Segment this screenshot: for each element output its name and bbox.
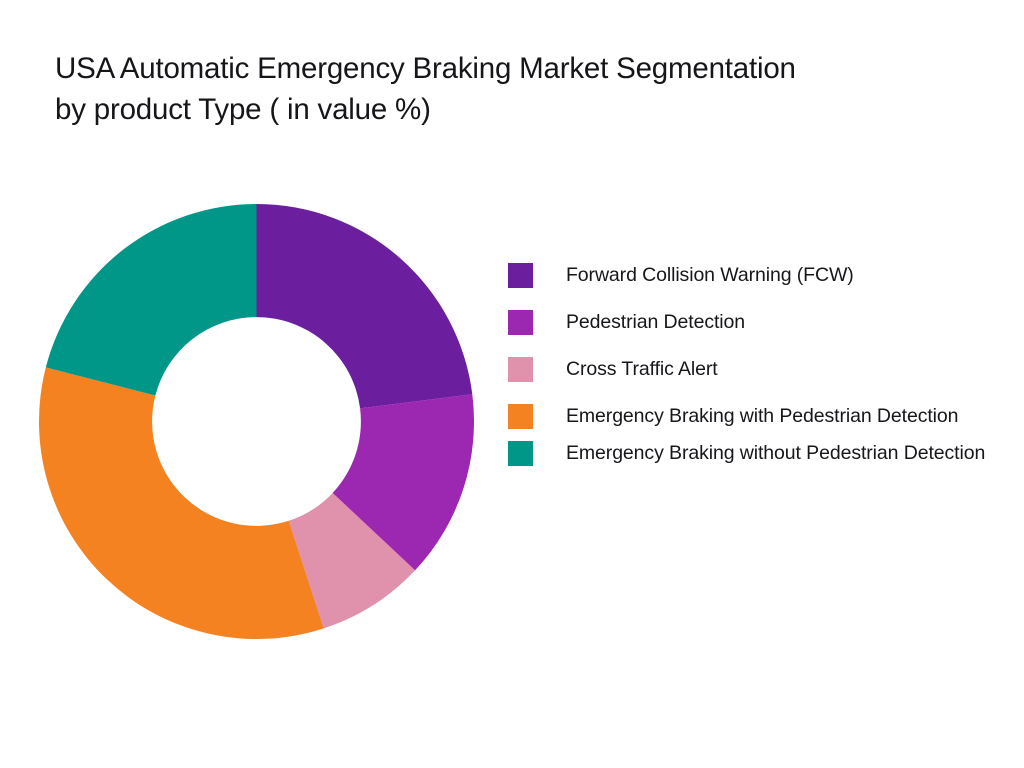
donut-slice[interactable]: Emergency Braking without Pedestrian Det… — [46, 204, 257, 396]
legend-item[interactable]: Emergency Braking without Pedestrian Det… — [508, 440, 994, 467]
chart-page: USA Automatic Emergency Braking Market S… — [0, 0, 1024, 768]
legend-item-label: Cross Traffic Alert — [566, 356, 718, 383]
legend-item-label: Emergency Braking with Pedestrian Detect… — [566, 403, 958, 430]
legend-swatch-icon — [508, 357, 533, 382]
legend-item[interactable]: Forward Collision Warning (FCW) — [508, 262, 994, 289]
legend-swatch-icon — [508, 441, 533, 466]
legend-item-label: Pedestrian Detection — [566, 309, 745, 336]
legend-item-label: Forward Collision Warning (FCW) — [566, 262, 854, 289]
legend-item[interactable]: Pedestrian Detection — [508, 309, 994, 336]
legend-item[interactable]: Emergency Braking with Pedestrian Detect… — [508, 403, 994, 430]
donut-chart-svg: Forward Collision Warning (FCW) 23%Pedes… — [39, 204, 474, 639]
page-title: USA Automatic Emergency Braking Market S… — [55, 48, 975, 130]
legend-item-label: Emergency Braking without Pedestrian Det… — [566, 440, 985, 467]
legend-swatch-icon — [508, 263, 533, 288]
donut-chart: Forward Collision Warning (FCW) 23%Pedes… — [39, 204, 474, 639]
chart-legend: Forward Collision Warning (FCW)Pedestria… — [508, 262, 994, 477]
legend-swatch-icon — [508, 404, 533, 429]
legend-swatch-icon — [508, 310, 533, 335]
donut-slice-group: Forward Collision Warning (FCW) 23%Pedes… — [39, 204, 474, 639]
donut-slice[interactable]: Emergency Braking with Pedestrian Detect… — [39, 367, 324, 639]
legend-item[interactable]: Cross Traffic Alert — [508, 356, 994, 383]
donut-slice[interactable]: Forward Collision Warning (FCW) 23% — [257, 204, 473, 408]
